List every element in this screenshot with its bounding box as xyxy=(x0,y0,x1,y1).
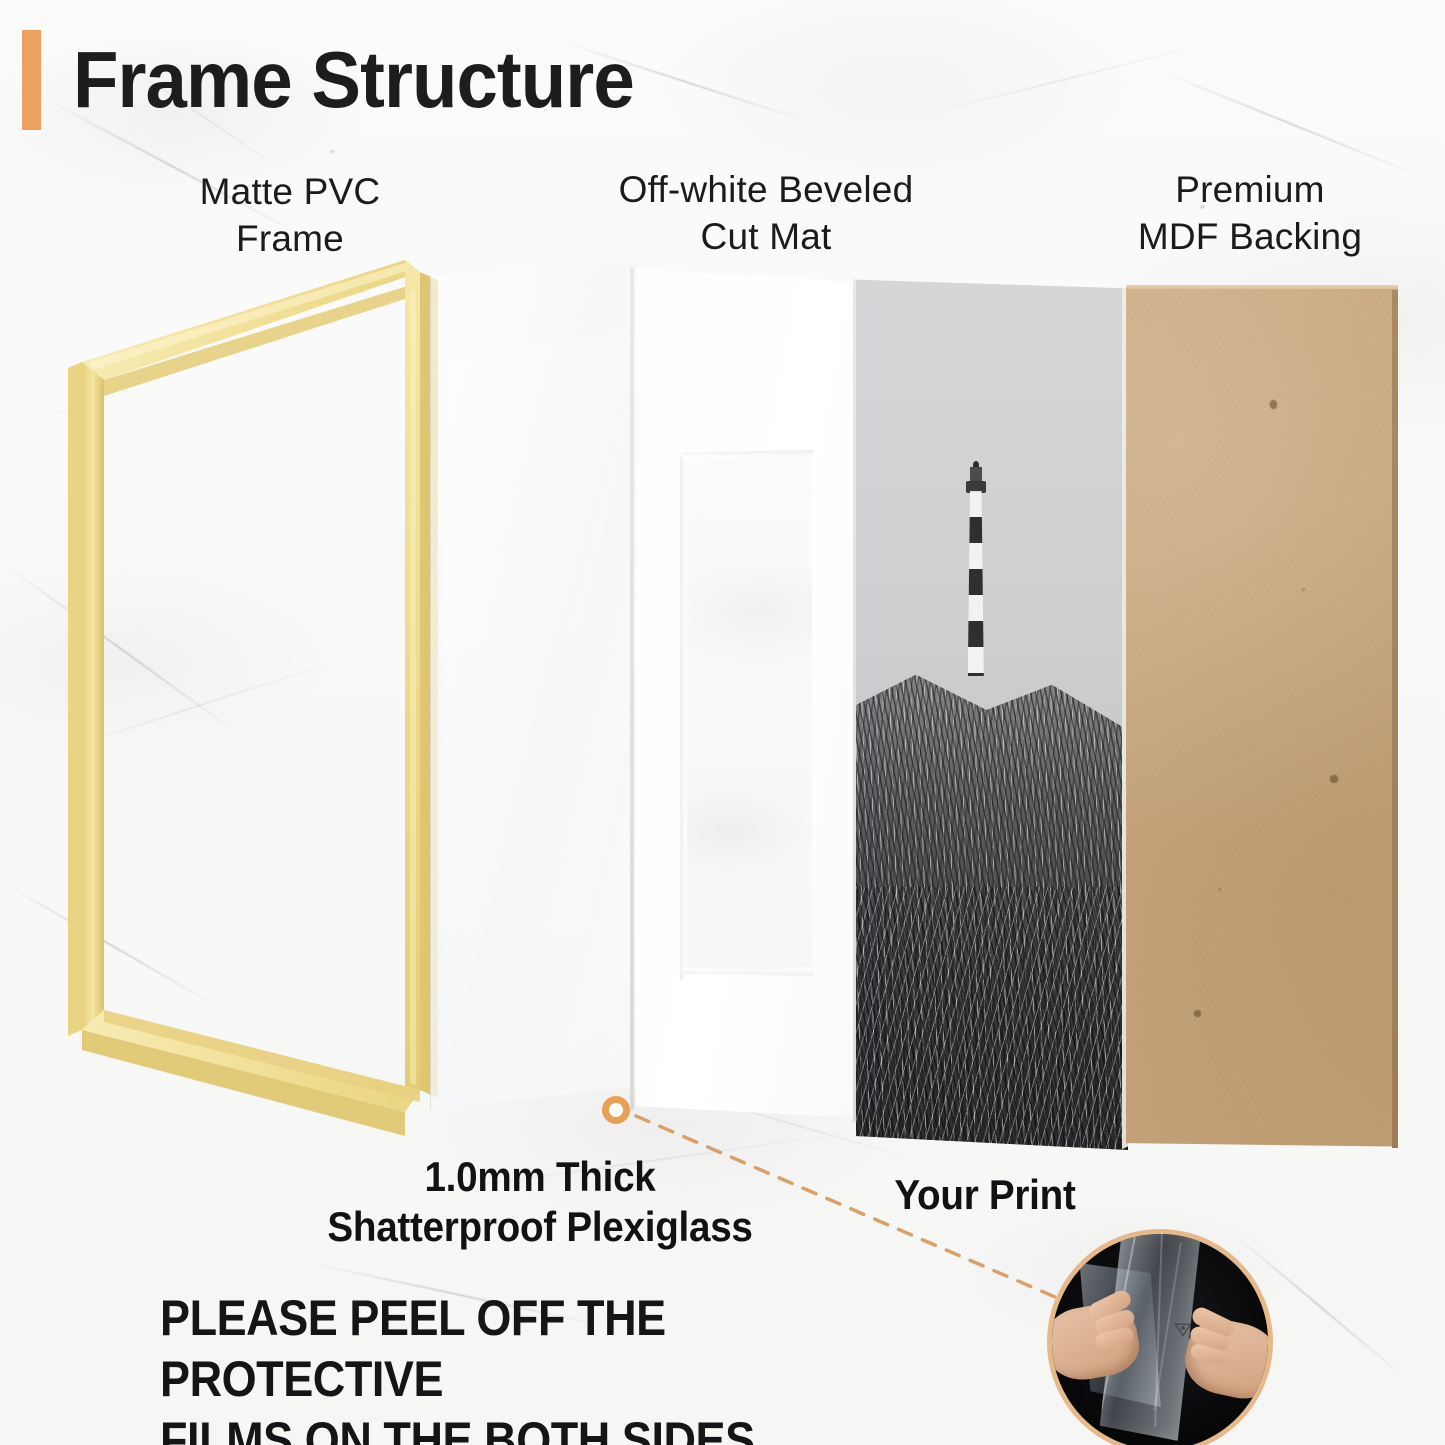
label-line-2: MDF Backing xyxy=(1070,213,1430,260)
label-line-1: Off-white Beveled xyxy=(556,166,976,213)
label-plexiglass: 1.0mm Thick Shatterproof Plexiglass xyxy=(301,1152,779,1253)
matte-pvc-frame-layer xyxy=(60,250,460,1170)
label-line-1: Your Print xyxy=(870,1170,1100,1220)
notice-highlight: BOTH SIDES xyxy=(484,1410,755,1445)
label-mdf-backing: Premium MDF Backing xyxy=(1070,166,1430,261)
plexiglass-edge xyxy=(630,266,634,1112)
peel-notice: PLEASE PEEL OFF THE PROTECTIVE FILMS ON … xyxy=(160,1288,952,1445)
callout-marker-dot xyxy=(602,1096,630,1124)
label-line-1: Matte PVC xyxy=(110,168,470,215)
notice-line-2: FILMS ON THE BOTH SIDES xyxy=(160,1410,952,1445)
label-cut-mat: Off-white Beveled Cut Mat xyxy=(556,166,976,261)
your-print-layer xyxy=(856,278,1128,1150)
plexiglass-sheen xyxy=(445,330,625,1090)
photo-dunes xyxy=(856,644,1128,1150)
label-line-2: Frame xyxy=(110,215,470,262)
mdf-right-edge xyxy=(1392,290,1398,1148)
notice-line-1: PLEASE PEEL OFF THE PROTECTIVE xyxy=(160,1288,952,1410)
mat-bevel-left xyxy=(680,452,687,980)
lighthouse-dune-photo xyxy=(856,278,1128,1150)
mdf-backing-layer xyxy=(1126,288,1398,1150)
label-line-2: Cut Mat xyxy=(556,213,976,260)
label-line-2: Shatterproof Plexiglass xyxy=(301,1202,779,1252)
peeling-film-inset-photo xyxy=(1047,1229,1273,1445)
label-your-print: Your Print xyxy=(870,1170,1100,1220)
label-line-1: 1.0mm Thick xyxy=(301,1152,779,1202)
label-matte-pvc-frame: Matte PVC Frame xyxy=(110,168,470,263)
lighthouse-icon xyxy=(965,461,987,676)
label-line-1: Premium xyxy=(1070,166,1430,213)
infographic-canvas: Frame Structure xyxy=(0,0,1445,1445)
mat-window-opening xyxy=(684,455,812,975)
notice-line-2-prefix: FILMS ON THE xyxy=(160,1412,484,1445)
